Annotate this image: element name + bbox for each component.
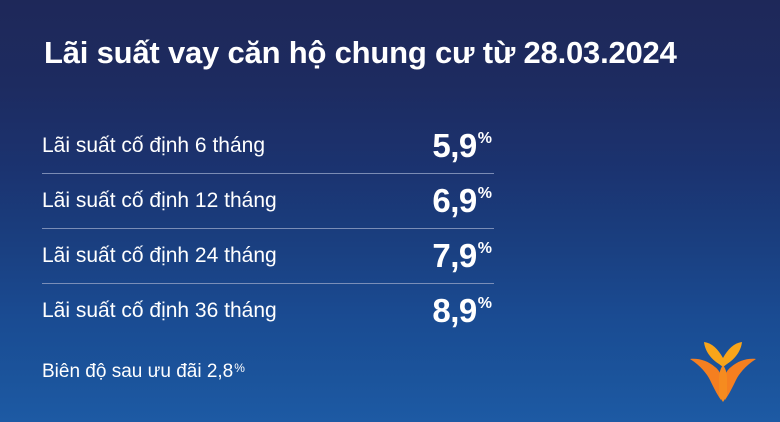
rate-value: 7,9 % <box>432 239 494 273</box>
rate-label: Lãi suất cố định 6 tháng <box>42 133 265 159</box>
table-row: Lãi suất cố định 12 tháng 6,9 % <box>42 173 494 228</box>
footnote-text: Biên độ sau ưu đãi 2,8 <box>42 360 233 384</box>
infographic-canvas: Lãi suất vay căn hộ chung cư từ 28.03.20… <box>0 0 780 422</box>
table-row: Lãi suất cố định 6 tháng 5,9 % <box>42 118 494 173</box>
butterfly-logo-icon <box>688 338 758 404</box>
rate-number: 8,9 <box>432 294 476 328</box>
percent-sign: % <box>478 130 492 148</box>
rate-number: 7,9 <box>432 239 476 273</box>
table-row: Lãi suất cố định 36 tháng 8,9 % <box>42 283 494 338</box>
table-row: Lãi suất cố định 24 tháng 7,9 % <box>42 228 494 283</box>
rate-value: 8,9 % <box>432 294 494 328</box>
rate-table: Lãi suất cố định 6 tháng 5,9 % Lãi suất … <box>42 118 494 338</box>
rate-value: 6,9 % <box>432 184 494 218</box>
percent-sign: % <box>478 240 492 258</box>
rate-number: 6,9 <box>432 184 476 218</box>
rate-label: Lãi suất cố định 24 tháng <box>42 243 277 269</box>
footnote-percent-sign: % <box>234 361 245 375</box>
footnote: Biên độ sau ưu đãi 2,8 % <box>42 360 245 384</box>
vietnamnet-butterfly-logo <box>688 338 758 404</box>
page-title: Lãi suất vay căn hộ chung cư từ 28.03.20… <box>44 33 744 73</box>
rate-label: Lãi suất cố định 12 tháng <box>42 188 277 214</box>
percent-sign: % <box>478 295 492 313</box>
rate-number: 5,9 <box>432 129 476 163</box>
percent-sign: % <box>478 185 492 203</box>
rate-value: 5,9 % <box>432 129 494 163</box>
rate-label: Lãi suất cố định 36 tháng <box>42 298 277 324</box>
